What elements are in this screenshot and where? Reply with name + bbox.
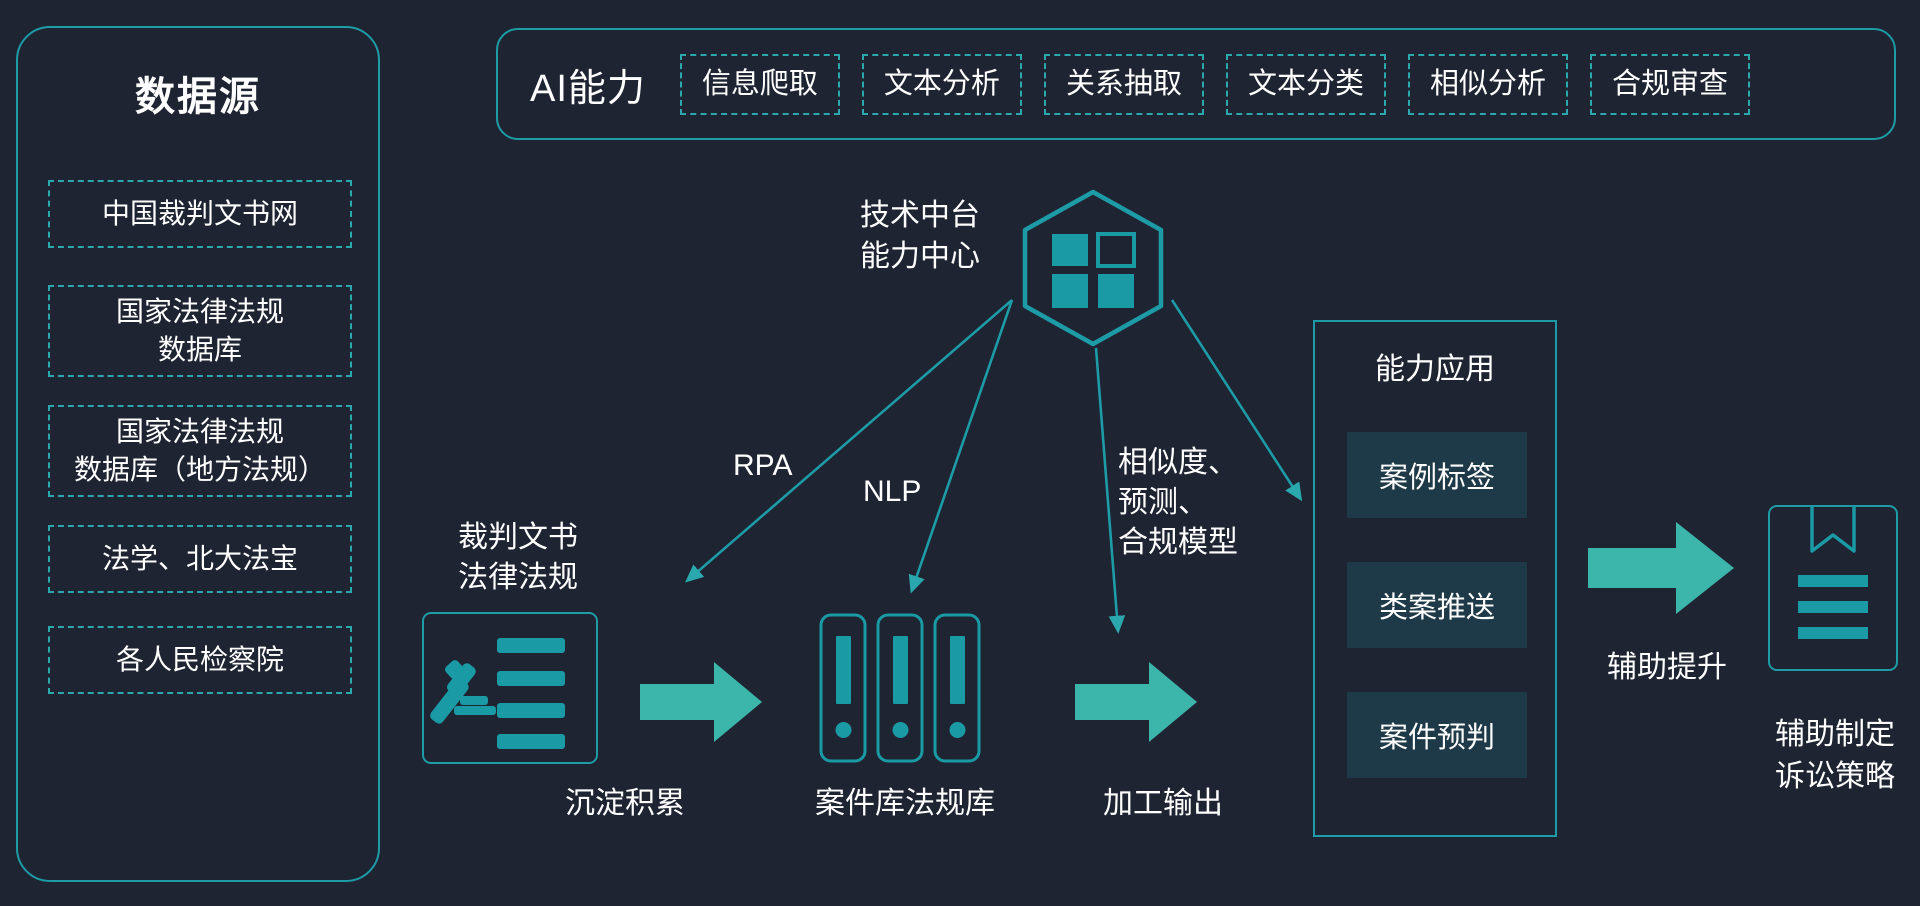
data-source-item-0[interactable]: 中国裁判文书网 <box>48 180 352 248</box>
server-stack-icon <box>818 612 986 764</box>
data-source-item-label: 法学、北大法宝 <box>102 540 298 578</box>
pipeline-caption-4: 辅助提升 <box>1572 648 1762 688</box>
connector-label-nlp: NLP <box>863 472 921 512</box>
data-source-item-label: 各人民检察院 <box>116 641 284 679</box>
ai-capability-bar: AI能力 信息爬取 文本分析 关系抽取 文本分类 相似分析 合规审查 <box>496 28 1896 140</box>
data-source-item-4[interactable]: 各人民检察院 <box>48 626 352 694</box>
ai-capability-chip-0[interactable]: 信息爬取 <box>680 54 840 115</box>
data-source-item-label: 中国裁判文书网 <box>102 195 298 233</box>
connector-label-similarity: 相似度、 预测、 合规模型 <box>1118 443 1238 563</box>
capability-application-item-1[interactable]: 类案推送 <box>1347 562 1527 648</box>
pipeline-caption-3: 加工输出 <box>1068 784 1258 824</box>
diagram-canvas: 数据源 中国裁判文书网 国家法律法规 数据库 国家法律法规 数据库（地方法规） … <box>0 0 1920 906</box>
pipeline-caption-1: 沉淀积累 <box>530 784 720 824</box>
capability-application-item-0[interactable]: 案例标签 <box>1347 432 1527 518</box>
data-source-item-1[interactable]: 国家法律法规 数据库 <box>48 285 352 377</box>
capability-application-title: 能力应用 <box>1315 344 1555 388</box>
data-source-item-label: 国家法律法规 数据库（地方法规） <box>74 413 326 489</box>
data-source-panel: 数据源 中国裁判文书网 国家法律法规 数据库 国家法律法规 数据库（地方法规） … <box>16 26 380 882</box>
pipeline-arrow-2-icon <box>1075 660 1199 744</box>
ai-capability-label: AI能力 <box>530 57 646 112</box>
ai-capability-chip-3[interactable]: 文本分类 <box>1226 54 1386 115</box>
bookmarked-document-icon <box>1768 505 1898 671</box>
hub-label: 技术中台 能力中心 <box>845 195 995 277</box>
pipeline-arrow-3-icon <box>1588 520 1736 616</box>
data-source-item-2[interactable]: 国家法律法规 数据库（地方法规） <box>48 405 352 497</box>
connector-label-rpa: RPA <box>733 446 792 486</box>
ai-capability-chip-4[interactable]: 相似分析 <box>1408 54 1568 115</box>
pipeline-caption-5: 辅助制定 诉讼策略 <box>1740 714 1920 798</box>
data-source-item-label: 国家法律法规 数据库 <box>116 293 284 369</box>
data-source-item-3[interactable]: 法学、北大法宝 <box>48 525 352 593</box>
ai-capability-chip-2[interactable]: 关系抽取 <box>1044 54 1204 115</box>
capability-application-panel: 能力应用 案例标签 类案推送 案件预判 <box>1313 320 1557 837</box>
hexagon-four-squares-icon <box>1018 188 1168 348</box>
gavel-document-icon <box>422 612 598 764</box>
data-source-title: 数据源 <box>18 64 378 122</box>
capability-application-item-2[interactable]: 案件预判 <box>1347 692 1527 778</box>
ai-capability-chip-5[interactable]: 合规审查 <box>1590 54 1750 115</box>
pipeline-caption-2: 案件库法规库 <box>790 784 1020 824</box>
ai-capability-chip-1[interactable]: 文本分析 <box>862 54 1022 115</box>
document-icon-caption: 裁判文书 法律法规 <box>423 518 613 598</box>
pipeline-arrow-1-icon <box>640 660 764 744</box>
